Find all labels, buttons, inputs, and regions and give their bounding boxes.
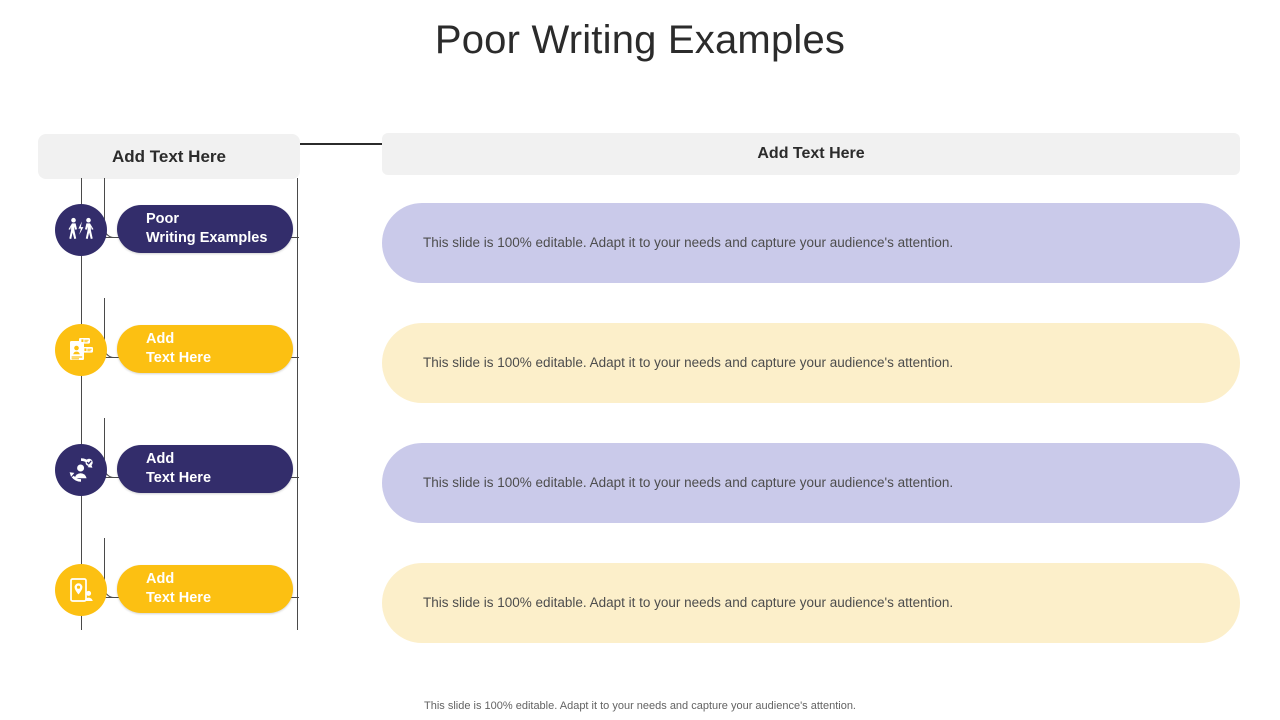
row-label-pill-3[interactable]: Add Text Here: [117, 445, 293, 493]
row-label-line1: Add: [146, 450, 293, 469]
row-label-line1: Add: [146, 570, 293, 589]
list-item[interactable]: Poor Writing Examples: [38, 204, 300, 264]
content-card[interactable]: This slide is 100% editable. Adapt it to…: [382, 203, 1240, 283]
page-title: Poor Writing Examples: [0, 18, 1280, 63]
left-panel: Add Text Here: [38, 134, 300, 630]
left-panel-header[interactable]: Add Text Here: [38, 134, 300, 179]
conflict-people-icon: [55, 204, 107, 256]
row-label-line2: Text Here: [146, 589, 293, 608]
verified-person-cycle-icon: [55, 444, 107, 496]
content-card-text: This slide is 100% editable. Adapt it to…: [423, 354, 953, 372]
left-panel-header-label: Add Text Here: [112, 147, 226, 167]
row-label-pill-1[interactable]: Poor Writing Examples: [117, 205, 293, 253]
row-label-line1: Poor: [146, 210, 293, 229]
right-panel: Add Text Here This slide is 100% editabl…: [382, 133, 1240, 633]
row-label-line1: Add: [146, 330, 293, 349]
list-item[interactable]: Add Text Here: [38, 564, 300, 624]
location-pin-map-icon: [55, 564, 107, 616]
slide-root: Poor Writing Examples Add Text Here: [0, 0, 1280, 720]
right-panel-header-label: Add Text Here: [757, 145, 864, 163]
list-item[interactable]: Add Text Here: [38, 324, 300, 384]
row-label-pill-4[interactable]: Add Text Here: [117, 565, 293, 613]
row-label-line2: Text Here: [146, 469, 293, 488]
content-card[interactable]: This slide is 100% editable. Adapt it to…: [382, 443, 1240, 523]
row-label-pill-2[interactable]: Add Text Here: [117, 325, 293, 373]
footer-note: This slide is 100% editable. Adapt it to…: [0, 700, 1280, 712]
row-label-line2: Writing Examples: [146, 229, 293, 248]
content-card-text: This slide is 100% editable. Adapt it to…: [423, 594, 953, 612]
content-card[interactable]: This slide is 100% editable. Adapt it to…: [382, 563, 1240, 643]
row-label-line2: Text Here: [146, 349, 293, 368]
content-card-text: This slide is 100% editable. Adapt it to…: [423, 234, 953, 252]
id-document-icon: [55, 324, 107, 376]
content-card-text: This slide is 100% editable. Adapt it to…: [423, 474, 953, 492]
list-item[interactable]: Add Text Here: [38, 444, 300, 504]
header-connector-line: [300, 143, 384, 145]
content-card[interactable]: This slide is 100% editable. Adapt it to…: [382, 323, 1240, 403]
right-panel-header[interactable]: Add Text Here: [382, 133, 1240, 175]
